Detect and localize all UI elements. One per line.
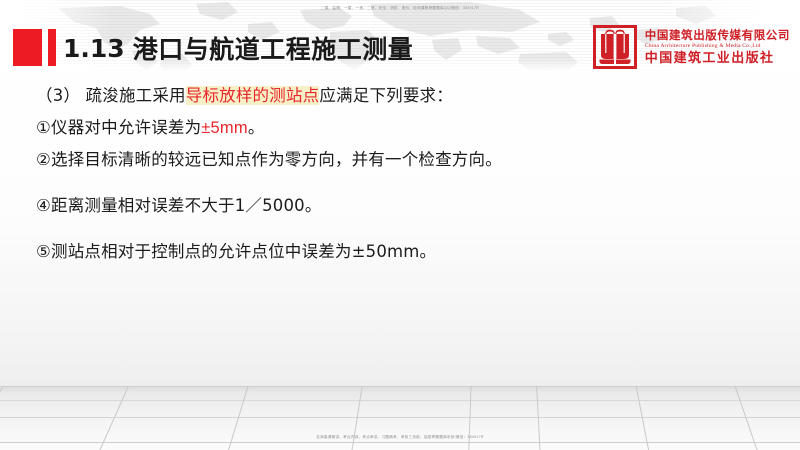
open-book-logo-icon — [593, 25, 637, 69]
floor-gridline-vertical — [0, 387, 3, 450]
publisher-company-cn: 中国建筑出版传媒有限公司 — [645, 28, 790, 42]
text-segment-red: ±5mm — [201, 119, 248, 137]
text-segment: （3） 疏浚施工采用 — [36, 86, 186, 105]
body-line-item-2: ②选择目标清晰的较远已知点作为零方向，并有一个检查方向。 — [36, 144, 776, 176]
floor-gridline-vertical — [536, 386, 541, 450]
text-segment: ②选择目标清晰的较远已知点作为零方向，并有一个检查方向。 — [36, 150, 502, 169]
body-line-item-5: ⑤测站点相对于控制点的允许点位中误差为±50mm。 — [36, 236, 776, 268]
floor-gridline-vertical — [733, 386, 761, 450]
top-watermark-note: 二建、监理、一建、一造、二造、安全、消防、造价、检测课程押题题库QQ/微信：38… — [0, 5, 800, 11]
floor-gridline-vertical — [350, 386, 364, 450]
text-segment: ⑤测站点相对于控制点的允许点位中误差为±50mm。 — [36, 242, 436, 261]
bottom-watermark-note: 名师高清精讲、考点内训、考点串讲、习题精考、考前三页纸、抽密押题题库系统/微信：… — [0, 434, 800, 440]
page-title: 1.13 港口与航道工程施工测量 — [63, 28, 413, 68]
text-segment: ④距离测量相对误差不大于1／5000。 — [36, 196, 322, 215]
slide-body: （3） 疏浚施工采用导标放样的测站点应满足下列要求： ①仪器对中允许误差为±5m… — [36, 80, 776, 268]
title-accent-bar-thin — [48, 29, 56, 66]
text-segment: ①仪器对中允许误差为 — [36, 118, 201, 137]
text-segment: 。 — [248, 118, 265, 137]
slide-canvas: 二建、监理、一建、一造、二造、安全、消防、造价、检测课程押题题库QQ/微信：38… — [0, 0, 800, 450]
page-title-number: 1.13 — [63, 34, 125, 63]
body-line-item-4: ④距离测量相对误差不大于1／5000。 — [36, 190, 776, 222]
body-line-heading-3: （3） 疏浚施工采用导标放样的测站点应满足下列要求： — [36, 80, 776, 112]
publisher-logo-text: 中国建筑出版传媒有限公司 China Architecture Publishi… — [645, 28, 790, 67]
floor-gridline-vertical — [634, 386, 651, 450]
publisher-company-en: China Architecture Publishing & Media Co… — [645, 42, 790, 50]
floor-gridline-horizontal — [0, 417, 800, 418]
text-segment: 应满足下列要求： — [319, 86, 453, 105]
publisher-imprint-cn: 中国建筑工业出版社 — [645, 50, 790, 67]
floor-gridline-vertical — [95, 386, 130, 450]
text-segment-highlight: 导标放样的测站点 — [186, 86, 320, 105]
body-line-item-1: ①仪器对中允许误差为±5mm。 — [36, 112, 776, 144]
title-accent-bar-wide — [13, 29, 42, 66]
floor-horizon-edge — [0, 386, 800, 387]
slide-background-floor — [0, 386, 800, 450]
floor-gridline-vertical — [468, 386, 472, 450]
floor-gridline-vertical — [225, 386, 251, 450]
floor-gridline-horizontal — [0, 442, 800, 443]
publisher-logo: 中国建筑出版传媒有限公司 China Architecture Publishi… — [593, 24, 790, 70]
page-title-text: 港口与航道工程施工测量 — [133, 30, 414, 66]
